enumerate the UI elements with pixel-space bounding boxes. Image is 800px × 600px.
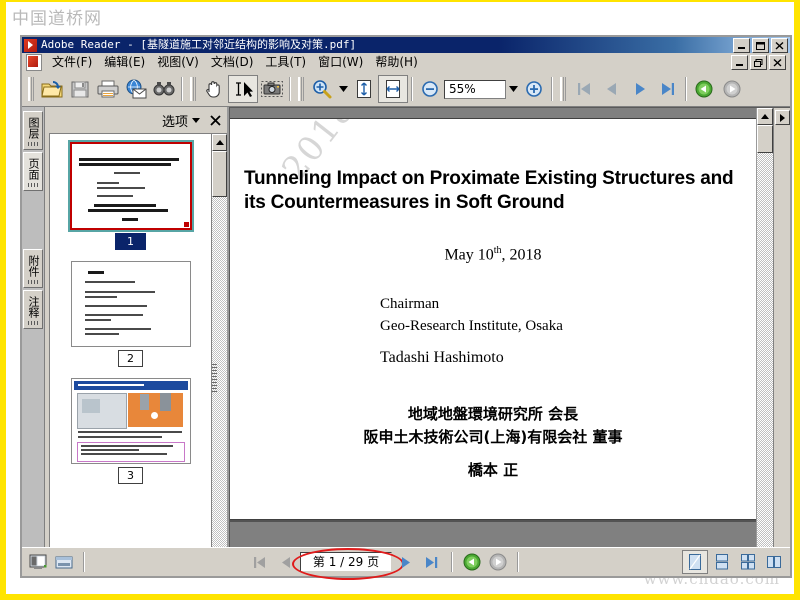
thumbnail-scrollbar[interactable] <box>211 134 227 576</box>
mdi-controls <box>731 55 786 70</box>
document-scrollbar-thumb[interactable] <box>757 125 773 153</box>
title-bar: Adobe Reader - [基隧道施工对邻近结构的影响及对策.pdf] <box>22 37 790 53</box>
mdi-restore-button[interactable] <box>750 55 767 70</box>
toolbar-separator-4 <box>551 77 553 101</box>
document-scroll-wrap: 2018 IBTC标准 Tunneling Impact on Proximat… <box>230 108 790 576</box>
comments-icon <box>28 321 39 325</box>
pages-icon <box>28 183 39 187</box>
status-first-page-icon[interactable] <box>248 551 272 573</box>
menu-item-file[interactable]: 文件(F) <box>46 54 98 71</box>
thumbnail-page-2[interactable] <box>71 261 191 347</box>
zoom-tool-dropdown-icon[interactable] <box>336 79 350 99</box>
slide-date-suffix: , 2018 <box>502 246 542 263</box>
sidebar-item-pages-label: 页面 <box>27 158 39 180</box>
fit-page-icon[interactable] <box>350 76 378 102</box>
toolbar-separator-2 <box>289 77 291 101</box>
adobe-reader-icon <box>24 39 37 52</box>
document-scroll-track[interactable] <box>757 153 773 559</box>
sidebar-item-layers-label: 图层 <box>27 117 39 139</box>
thumbnail-number-2: 2 <box>118 350 143 367</box>
previous-page-icon[interactable] <box>598 76 626 102</box>
hide-toolbar-icon[interactable] <box>52 551 76 573</box>
toolbar-separator-3 <box>411 77 413 101</box>
slide-date: May 10th, 2018 <box>230 245 756 264</box>
toolbar-grip-nav[interactable] <box>560 77 566 101</box>
continuous-layout-icon[interactable] <box>710 551 734 573</box>
window-title: Adobe Reader - [基隧道施工对邻近结构的影响及对策.pdf] <box>41 37 729 53</box>
document-scroll-up-button[interactable] <box>757 108 773 125</box>
show-navigation-pane-icon[interactable] <box>26 551 50 573</box>
slide-date-superscript: th <box>494 245 502 256</box>
previous-view-icon[interactable] <box>690 76 718 102</box>
slide-author-en: Tadashi Hashimoto <box>380 349 504 367</box>
slide-role-line1: Chairman <box>380 294 563 316</box>
thumbnail-scroll-track[interactable] <box>212 197 227 559</box>
slide-date-prefix: May 10 <box>444 246 493 263</box>
maximize-button[interactable] <box>752 38 769 53</box>
print-icon[interactable] <box>94 76 122 102</box>
snapshot-tool-icon[interactable] <box>258 76 286 102</box>
document-canvas[interactable]: 2018 IBTC标准 Tunneling Impact on Proximat… <box>230 108 756 576</box>
thumbnail-list: 1 <box>50 134 211 576</box>
right-splitter-strip[interactable] <box>773 108 790 576</box>
first-page-icon[interactable] <box>570 76 598 102</box>
sidebar-item-pages[interactable]: 页面 <box>23 152 43 191</box>
toolbar: 55% <box>22 72 790 107</box>
next-view-icon[interactable] <box>718 76 746 102</box>
pdf-document-icon <box>26 54 42 71</box>
thumbnail-number-1: 1 <box>115 233 146 250</box>
thumbnail-page-1[interactable] <box>70 142 192 230</box>
single-page-layout-icon[interactable] <box>682 550 708 574</box>
status-separator-1 <box>83 552 85 572</box>
pdf-page[interactable]: 2018 IBTC标准 Tunneling Impact on Proximat… <box>230 118 756 520</box>
slide-affiliation-cjk: 地域地盤環境研究所 会長 阪申土木技術公司(上海)有限会社 董事 <box>230 403 756 450</box>
document-view: 2018 IBTC标准 Tunneling Impact on Proximat… <box>229 107 790 576</box>
status-next-view-icon[interactable] <box>486 551 510 573</box>
thumbnail-scroll-up-button[interactable] <box>212 134 227 151</box>
slide-affiliation-en: Chairman Geo-Research Institute, Osaka <box>380 294 563 338</box>
thumbnail-scroll-area: 1 <box>49 133 227 576</box>
menu-item-document[interactable]: 文档(D) <box>205 54 260 71</box>
continuous-facing-layout-icon[interactable] <box>762 551 786 573</box>
adobe-reader-window: Adobe Reader - [基隧道施工对邻近结构的影响及对策.pdf] 文件… <box>20 35 792 578</box>
expand-right-panel-button[interactable] <box>775 110 790 125</box>
open-file-icon[interactable] <box>38 76 66 102</box>
toolbar-grip-select[interactable] <box>190 77 196 101</box>
status-last-page-icon[interactable] <box>420 551 444 573</box>
email-icon[interactable] <box>122 76 150 102</box>
toolbar-separator-5 <box>685 77 687 101</box>
facing-layout-icon[interactable] <box>736 551 760 573</box>
thumbnail-panel-header: 选项 <box>45 107 227 133</box>
status-previous-page-icon[interactable] <box>274 551 298 573</box>
status-next-page-icon[interactable] <box>394 551 418 573</box>
watermark-top-left: 中国道桥网 <box>12 4 102 29</box>
fit-width-icon[interactable] <box>378 75 408 103</box>
sidebar-item-attachments[interactable]: 附件 <box>23 249 43 288</box>
zoom-in-button[interactable] <box>520 76 548 102</box>
mdi-minimize-button[interactable] <box>731 55 748 70</box>
chevron-down-icon <box>192 118 200 123</box>
zoom-level-dropdown-icon[interactable] <box>506 79 520 99</box>
status-separator-3 <box>517 552 519 572</box>
menu-item-window[interactable]: 窗口(W) <box>312 54 369 71</box>
sidebar-item-comments[interactable]: 注释 <box>23 290 43 329</box>
toolbar-grip-file[interactable] <box>28 77 34 101</box>
slide-role-line2: Geo-Research Institute, Osaka <box>380 316 563 338</box>
menu-item-tools[interactable]: 工具(T) <box>259 54 312 71</box>
page-number-field[interactable]: 第 1 / 29 页 <box>300 552 392 572</box>
sidebar-item-layers[interactable]: 图层 <box>23 111 43 150</box>
layers-icon <box>28 142 39 146</box>
zoom-level-input[interactable]: 55% <box>444 80 506 99</box>
status-bar: 第 1 / 29 页 <box>22 547 790 576</box>
toolbar-grip-zoom[interactable] <box>298 77 304 101</box>
sidebar-item-comments-label: 注释 <box>27 296 39 318</box>
zoom-out-button[interactable] <box>416 76 444 102</box>
select-text-tool-icon[interactable] <box>228 75 258 103</box>
panel-resize-grip[interactable] <box>212 364 217 392</box>
toolbar-separator-1 <box>181 77 183 101</box>
find-icon[interactable] <box>150 76 178 102</box>
options-button-label: 选项 <box>162 111 188 130</box>
sidebar-item-attachments-label: 附件 <box>27 255 39 277</box>
close-button[interactable] <box>771 38 788 53</box>
menu-item-view[interactable]: 视图(V) <box>151 54 205 71</box>
menu-bar: 文件(F) 编辑(E) 视图(V) 文档(D) 工具(T) 窗口(W) 帮助(H… <box>22 53 790 72</box>
slide-affiliation-line1: 地域地盤環境研究所 会長 <box>230 403 756 426</box>
navigation-rail: 图层 页面 附件 注释 <box>22 107 45 576</box>
thumbnail-page-3[interactable] <box>71 378 191 464</box>
menu-item-edit[interactable]: 编辑(E) <box>98 54 151 71</box>
thumbnail-item-1[interactable]: 1 <box>50 142 211 250</box>
status-previous-view-icon[interactable] <box>460 551 484 573</box>
attachments-icon <box>28 280 39 284</box>
host-page: 中国道桥网 www.cndao.com Adobe Reader - [基隧道施… <box>0 0 800 600</box>
close-panel-icon[interactable] <box>210 115 221 126</box>
thumbnail-scrollbar-thumb[interactable] <box>212 151 227 197</box>
slide-title: Tunneling Impact on Proximate Existing S… <box>244 167 748 216</box>
options-button[interactable]: 选项 <box>162 111 200 130</box>
document-vertical-scrollbar[interactable] <box>756 108 773 576</box>
thumbnail-item-3[interactable]: 3 <box>50 378 211 484</box>
thumbnail-number-3: 3 <box>118 467 143 484</box>
menu-item-help[interactable]: 帮助(H) <box>369 54 423 71</box>
main-body: 图层 页面 附件 注释 <box>22 107 790 576</box>
minimize-button[interactable] <box>733 38 750 53</box>
mdi-close-button[interactable] <box>769 55 786 70</box>
thumbnail-panel: 选项 <box>45 107 229 576</box>
thumbnail-item-2[interactable]: 2 <box>50 261 211 367</box>
status-separator-2 <box>451 552 453 572</box>
hand-tool-icon[interactable] <box>200 76 228 102</box>
slide-affiliation-line2: 阪申土木技術公司(上海)有限会社 董事 <box>230 426 756 449</box>
zoom-tool-icon[interactable] <box>308 76 336 102</box>
page-number-value: 第 1 / 29 页 <box>313 555 379 569</box>
window-controls <box>733 38 788 53</box>
last-page-icon[interactable] <box>654 76 682 102</box>
slide-author-cjk: 橋本 正 <box>230 459 756 480</box>
save-icon[interactable] <box>66 76 94 102</box>
next-page-icon[interactable] <box>626 76 654 102</box>
